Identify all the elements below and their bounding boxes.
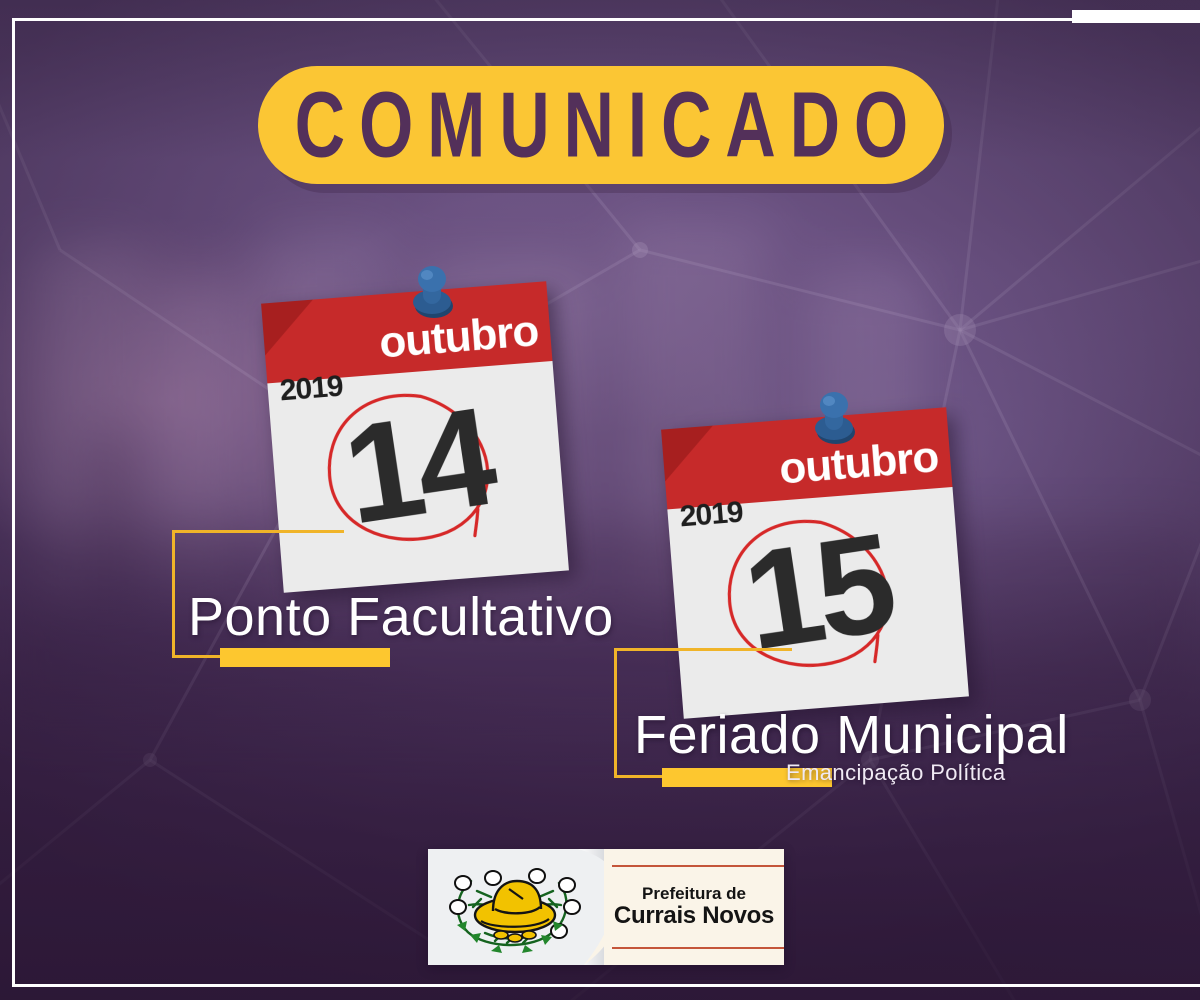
pushpin-icon bbox=[806, 388, 862, 450]
logo-rule-bottom bbox=[612, 947, 784, 949]
comunicado-poster: COMUNICADO outubro 2019 14 outubro 2019 … bbox=[0, 0, 1200, 1000]
comunicado-badge: COMUNICADO bbox=[258, 66, 944, 184]
poster-border-notch bbox=[1072, 10, 1200, 23]
logo-text-panel: Prefeitura de Currais Novos bbox=[604, 849, 784, 965]
caption-subtitle: Emancipação Política bbox=[786, 760, 1006, 786]
caption-title: Ponto Facultativo bbox=[188, 586, 614, 648]
pushpin-icon bbox=[404, 262, 460, 324]
caption-ponto-facultativo: Ponto Facultativo bbox=[172, 530, 642, 662]
logo-emblem-panel bbox=[428, 849, 604, 965]
logo-line-prefeitura: Prefeitura de bbox=[642, 885, 746, 903]
caption-title: Feriado Municipal bbox=[634, 704, 1069, 766]
logo-rule-top bbox=[612, 865, 784, 867]
comunicado-badge-label: COMUNICADO bbox=[280, 72, 921, 178]
cowboy-hat-cotton-wreath-emblem-icon bbox=[441, 859, 591, 955]
caption-feriado-municipal: Feriado Municipal Emancipação Política bbox=[614, 648, 1114, 786]
logo-line-currais-novos: Currais Novos bbox=[614, 903, 774, 928]
prefeitura-logo: Prefeitura de Currais Novos bbox=[428, 849, 784, 965]
caption-underline-bar bbox=[220, 648, 390, 667]
